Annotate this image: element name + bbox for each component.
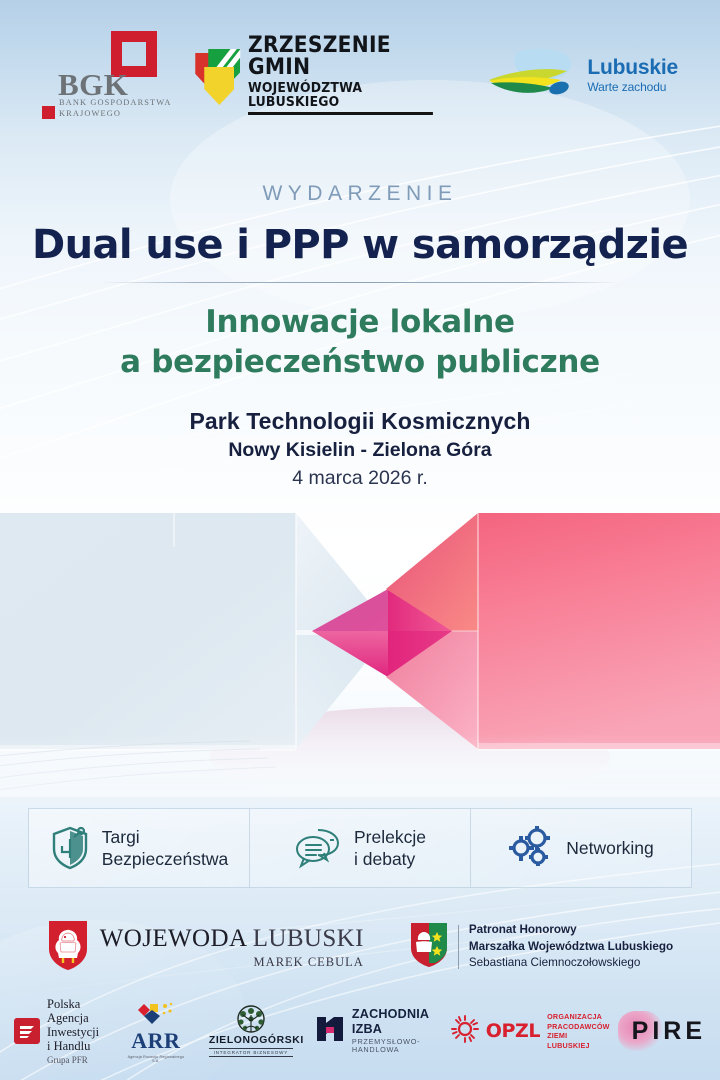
title-block: WYDARZENIE Dual use i PPP w samorządzie …: [0, 182, 720, 490]
page-title: Dual use i PPP w samorządzie: [0, 222, 720, 268]
patronat-line3: Sebastiana Ciemnoczołowskiego: [469, 955, 673, 972]
feature-prelekcje-i-debaty[interactable]: Prelekcje i debaty: [250, 809, 471, 887]
opzl-word: OPZL: [486, 1020, 540, 1042]
arr-mark-icon: [125, 1000, 187, 1030]
lubuskie-line2: Warte zachodu: [587, 81, 678, 93]
shield-icon: [50, 826, 90, 870]
lubuskie-line1: Lubuskie: [587, 57, 678, 78]
opzl-line1: ORGANIZACJA: [547, 1012, 610, 1022]
subtitle-line2: a bezpieczeństwo publiczne: [0, 343, 720, 383]
abstract-geometric-graphic: [0, 505, 720, 797]
zachodnia-izba-line1: ZACHODNIA IZBA: [352, 1007, 429, 1036]
arr-word: ARR: [131, 1028, 180, 1053]
logo-arr: ARR Agencja Rozwoju Regionalnego S.A.: [125, 1000, 187, 1063]
features-bar: Targi Bezpieczeństwa Prelekcje i debaty: [28, 808, 692, 888]
event-eyebrow: WYDARZENIE: [0, 182, 720, 206]
event-location: Nowy Kisielin - Zielona Góra: [0, 439, 720, 462]
feature-label: Networking: [566, 837, 654, 859]
event-date: 4 marca 2026 r.: [0, 467, 720, 490]
paih-mark-icon: [14, 1018, 40, 1044]
sponsor-row: Polska Agencja Inwestycji i Handlu Grupa…: [0, 995, 720, 1067]
lubuskie-mark-icon: [487, 47, 579, 103]
subtitle-line1: Innowacje lokalne: [0, 303, 720, 343]
poster: BGK BANK GOSPODARSTWA KRAJOWEGO ZRZESZEN…: [0, 0, 720, 1080]
feature-networking[interactable]: Networking: [471, 809, 691, 887]
paih-line1: Polska Agencja: [47, 997, 103, 1025]
feature-label: Prelekcje i debaty: [354, 826, 426, 870]
logo-pire: PIRE: [632, 1017, 706, 1046]
bgk-fullname: BANK GOSPODARSTWA KRAJOWEGO: [59, 97, 171, 119]
opzl-line2: PRACODAWCÓW: [547, 1022, 610, 1032]
logo-zachodnia-izba: ZACHODNIA IZBA PRZEMYSŁOWO-HANDLOWA: [315, 1007, 429, 1055]
gears-icon: [508, 826, 554, 870]
opzl-sun-icon: [451, 1015, 479, 1048]
feature-label: Targi Bezpieczeństwa: [102, 826, 228, 870]
polish-eagle-crest-icon: [47, 919, 89, 976]
wojewoda-title: WOJEWODA LUBUSKI: [100, 925, 364, 952]
pire-word: PIRE: [632, 1017, 706, 1046]
patronat-divider: [458, 925, 459, 969]
logo-lubuskie: Lubuskie Warte zachodu: [487, 47, 678, 103]
logo-zielonogorski: ZIELONOGÓRSKI INTEGRATOR BIZNESOWY: [209, 1005, 293, 1057]
header-logos: BGK BANK GOSPODARSTWA KRAJOWEGO ZRZESZEN…: [0, 0, 720, 150]
page-subtitle: Innowacje lokalne a bezpieczeństwo publi…: [0, 303, 720, 382]
feature-line1: Networking: [566, 838, 654, 858]
zrzeszenie-line1: ZRZESZENIE GMIN: [248, 35, 433, 79]
patronat-line1: Patronat Honorowy: [469, 922, 673, 939]
zielonogorski-sub: INTEGRATOR BIZNESOWY: [209, 1048, 293, 1057]
wojewoda-bold: WOJEWODA: [100, 925, 246, 952]
logo-opzl: OPZL ORGANIZACJA PRACODAWCÓW ZIEMI LUBUS…: [451, 1012, 610, 1050]
logo-bgk: BGK BANK GOSPODARSTWA KRAJOWEGO: [42, 27, 157, 123]
zielonogorski-tree-icon: [209, 1005, 293, 1035]
wojewoda-light: LUBUSKI: [253, 925, 364, 952]
feature-line2: i debaty: [354, 849, 415, 869]
shield-yellow-icon: [204, 67, 234, 105]
patronat-line2: Marszałka Województwa Lubuskiego: [469, 939, 673, 956]
bgk-dot-icon: [42, 106, 55, 119]
opzl-line3: ZIEMI LUBUSKIEJ: [547, 1031, 610, 1050]
zachodnia-izba-mark-icon: [315, 1014, 345, 1049]
paih-line2: Inwestycji i Handlu: [47, 1025, 103, 1053]
zrzeszenie-line2: WOJEWÓDZTWA LUBUSKIEGO: [248, 82, 433, 115]
speech-bubbles-icon: [294, 827, 342, 869]
patronat-honorowy: Patronat Honorowy Marszałka Województwa …: [410, 922, 673, 973]
logo-zrzeszenie-gmin: ZRZESZENIE GMIN WOJEWÓDZTWA LUBUSKIEGO: [195, 45, 449, 105]
feature-targi-bezpieczenstwa[interactable]: Targi Bezpieczeństwa: [29, 809, 250, 887]
zachodnia-izba-line2: PRZEMYSŁOWO-HANDLOWA: [352, 1038, 429, 1055]
lubuskie-coat-of-arms-icon: [410, 922, 448, 973]
event-venue: Park Technologii Kosmicznych: [0, 408, 720, 435]
wojewoda-person: MAREK CEBULA: [100, 956, 364, 969]
bgk-fullname-line2: KRAJOWEGO: [59, 108, 171, 119]
logo-wojewoda-lubuski: WOJEWODA LUBUSKI MAREK CEBULA: [47, 919, 364, 976]
title-divider: [100, 282, 620, 283]
feature-line1: Prelekcje: [354, 827, 426, 847]
zielonogorski-word: ZIELONOGÓRSKI: [209, 1035, 293, 1046]
feature-line1: Targi: [102, 827, 140, 847]
logo-paih: Polska Agencja Inwestycji i Handlu Grupa…: [14, 997, 103, 1065]
zrzeszenie-shields-icon: [195, 47, 240, 103]
bgk-fullname-line1: BANK GOSPODARSTWA: [59, 97, 171, 108]
feature-line2: Bezpieczeństwa: [102, 849, 228, 869]
arr-sub: Agencja Rozwoju Regionalnego S.A.: [125, 1055, 187, 1063]
paih-line3: Grupa PFR: [47, 1055, 103, 1065]
patron-row: WOJEWODA LUBUSKI MAREK CEBULA Patronat H…: [0, 912, 720, 982]
